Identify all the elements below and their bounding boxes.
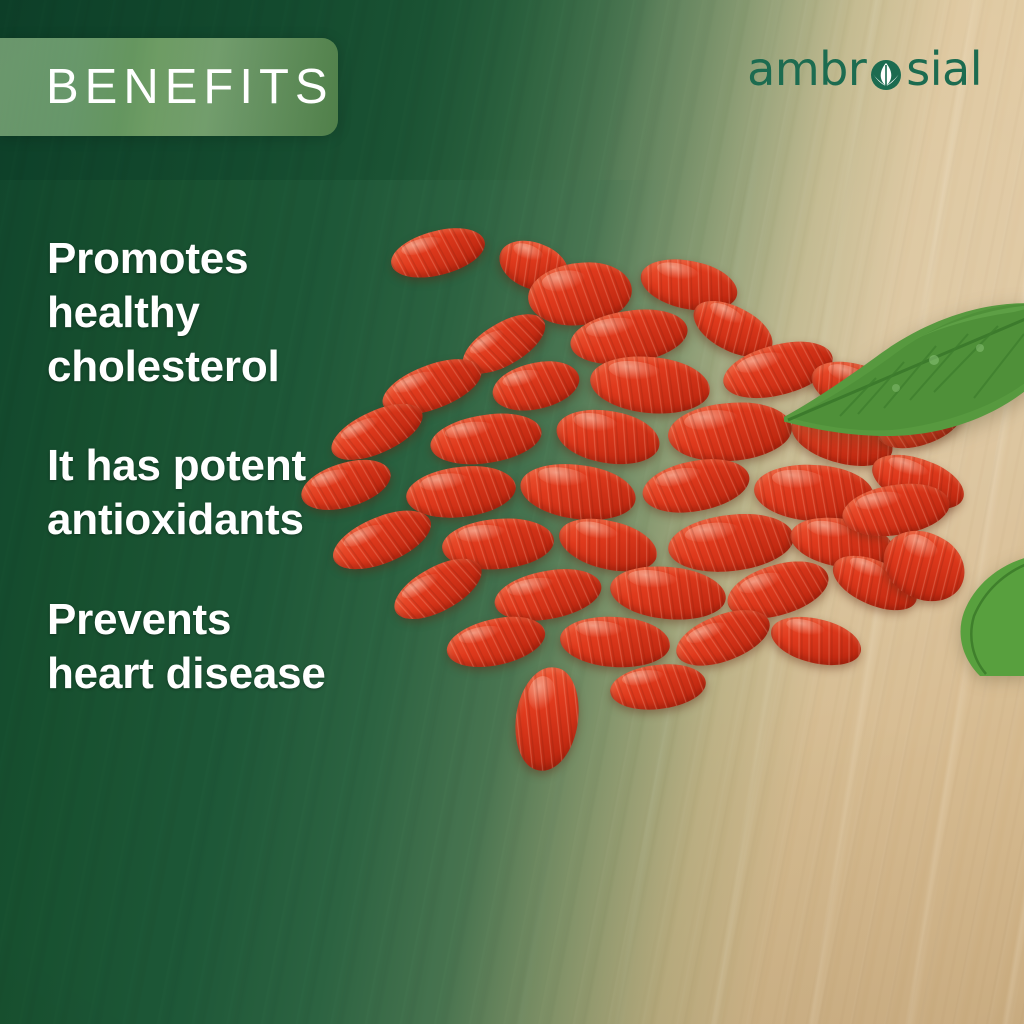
mint-leaf-icon	[784, 296, 1024, 506]
benefits-list: Promotes healthy cholesterol It has pote…	[47, 232, 477, 701]
leaf-circle-logo-icon	[866, 49, 906, 89]
benefit-2-line-2: antioxidants	[47, 493, 477, 547]
logo-text-part-1: ambr	[747, 46, 866, 92]
small-leaf-icon	[940, 556, 1024, 676]
benefit-1-line-1: Promotes	[47, 232, 477, 286]
benefit-item-3: Prevents heart disease	[47, 593, 477, 701]
benefits-banner: BENEFITS	[0, 38, 338, 136]
benefit-3-line-1: Prevents	[47, 593, 477, 647]
benefits-banner-label: BENEFITS	[46, 63, 334, 112]
benefit-3-line-2: heart disease	[47, 647, 477, 701]
benefit-1-line-2: healthy	[47, 286, 477, 340]
ambrosial-logo: ambr sial	[747, 46, 982, 92]
logo-text-part-2: sial	[906, 46, 982, 92]
benefit-item-1: Promotes healthy cholesterol	[47, 232, 477, 394]
benefits-graphic-canvas: BENEFITS ambr sial Promotes healthy chol…	[0, 0, 1024, 1024]
benefit-1-line-3: cholesterol	[47, 340, 477, 394]
benefit-2-line-1: It has potent	[47, 439, 477, 493]
benefit-item-2: It has potent antioxidants	[47, 439, 477, 547]
